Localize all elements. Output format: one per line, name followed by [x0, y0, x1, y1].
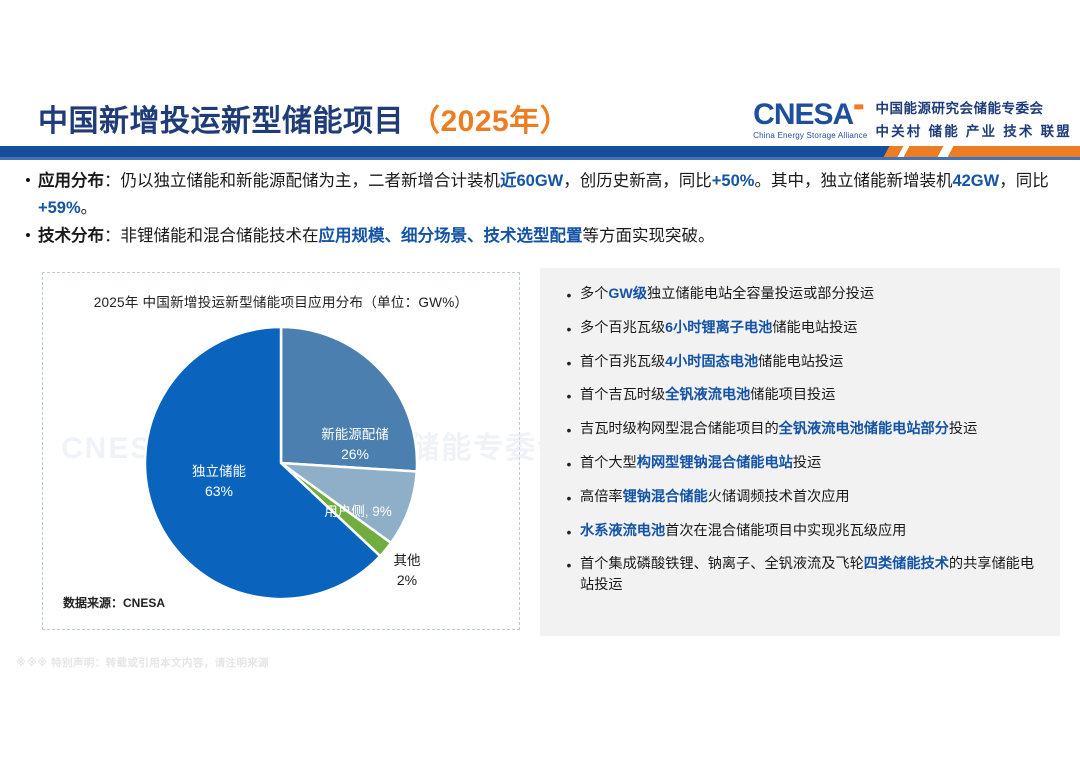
- highlight-text: 全钒液流电池储能电站部分: [779, 421, 949, 437]
- plain-text: ：仍以独立储能和新能源配储为主，二者新增合计装机: [104, 172, 500, 190]
- bullet-dot-icon: •: [558, 284, 580, 305]
- highlight-text: 近60GW: [500, 172, 563, 190]
- plain-text: 投运: [793, 455, 821, 471]
- plain-text: 高倍率: [580, 489, 623, 505]
- highlight-list-item: •吉瓦时级构网型混合储能项目的全钒液流电池储能电站部分投运: [558, 419, 1042, 440]
- plain-text: 首次在混合储能项目中实现兆瓦级应用: [665, 523, 906, 539]
- footer-disclaimer: ※※※ 特别声明：转载或引用本文内容，请注明来源: [16, 655, 269, 670]
- plain-text: 储能电站投运: [772, 320, 857, 336]
- bullet-dot-icon: •: [558, 352, 580, 373]
- highlight-text: 构网型锂钠混合储能电站: [637, 455, 793, 471]
- intro-bullet-item: •应用分布：仍以独立储能和新能源配储为主，二者新增合计装机近60GW，创历史新高…: [18, 168, 1064, 221]
- plain-text: 。其中，独立储能新增装机: [754, 172, 952, 190]
- bullet-dot-icon: •: [18, 223, 38, 248]
- plain-text: ：非锂储能和混合储能技术在: [104, 227, 319, 245]
- slide: 中国新增投运新型储能项目（2025年） CNESA▪▪ China Energy…: [0, 0, 1080, 763]
- intro-bullet-text: 应用分布：仍以独立储能和新能源配储为主，二者新增合计装机近60GW，创历史新高，…: [38, 168, 1064, 221]
- plain-text: 火储调频技术首次应用: [708, 489, 850, 505]
- plain-text: 多个百兆瓦级: [580, 320, 665, 336]
- highlight-text: 四类储能技术: [864, 556, 949, 572]
- bullet-dot-icon: •: [558, 487, 580, 508]
- bullet-dot-icon: •: [558, 318, 580, 339]
- highlight-list-item: •首个大型构网型锂钠混合储能电站投运: [558, 453, 1042, 474]
- header-divider-bar: [0, 146, 1080, 160]
- plain-text: 首个吉瓦时级: [580, 387, 665, 403]
- highlight-text: GW级: [608, 286, 647, 302]
- highlight-item-text: 首个大型构网型锂钠混合储能电站投运: [580, 453, 1042, 474]
- plain-text: 。: [81, 199, 98, 217]
- plain-text: 首个大型: [580, 455, 637, 471]
- intro-bullet-text: 技术分布：非锂储能和混合储能技术在应用规模、细分场景、技术选型配置等方面实现突破…: [38, 223, 1064, 250]
- plain-text: 吉瓦时级构网型混合储能项目的: [580, 421, 779, 437]
- highlight-text: 4小时固态电池: [665, 354, 758, 370]
- chart-panel: 2025年 中国新增投运新型储能项目应用分布（单位：GW%） CNESA 中国能…: [42, 272, 520, 630]
- logo-wordmark: CNESA▪▪ China Energy Storage Alliance: [753, 97, 867, 140]
- logo-cnesa-label: CNESA: [753, 98, 853, 131]
- chart-source: 数据来源：CNESA: [63, 594, 165, 611]
- bullet-dot-icon: •: [18, 168, 38, 193]
- highlight-list-item: •首个吉瓦时级全钒液流电池储能项目投运: [558, 385, 1042, 406]
- bullet-label: 技术分布: [38, 227, 104, 245]
- highlight-list-item: •首个集成磷酸铁锂、钠离子、全钒液流及飞轮四类储能技术的共享储能电站投运: [558, 554, 1042, 595]
- highlight-item-text: 高倍率锂钠混合储能火储调频技术首次应用: [580, 487, 1042, 508]
- highlights-panel: •多个GW级独立储能电站全容量投运或部分投运•多个百兆瓦级6小时锂离子电池储能电…: [540, 268, 1060, 636]
- plain-text: ，创历史新高，同比: [563, 172, 712, 190]
- plain-text: ，同比: [999, 172, 1049, 190]
- highlight-text: 全钒液流电池: [665, 387, 750, 403]
- bullet-label: 应用分布: [38, 172, 104, 190]
- highlight-item-text: 吉瓦时级构网型混合储能项目的全钒液流电池储能电站部分投运: [580, 419, 1042, 440]
- divider-underline: [0, 157, 1080, 160]
- plain-text: 储能电站投运: [758, 354, 843, 370]
- logo-flag-icon: ▪▪: [853, 96, 861, 118]
- plain-text: 独立储能电站全容量投运或部分投运: [647, 286, 874, 302]
- highlight-item-text: 首个百兆瓦级4小时固态电池储能电站投运: [580, 352, 1042, 373]
- logo-chinese-name: 中国能源研究会储能专委会 中关村 储能 产业 技术 联盟: [875, 97, 1072, 140]
- bullet-dot-icon: •: [558, 385, 580, 406]
- logo-cnesa-text: CNESA▪▪: [753, 97, 861, 130]
- highlight-item-text: 多个GW级独立储能电站全容量投运或部分投运: [580, 284, 1042, 305]
- cnesa-logo: CNESA▪▪ China Energy Storage Alliance 中国…: [753, 94, 1072, 142]
- highlight-item-text: 首个集成磷酸铁锂、钠离子、全钒液流及飞轮四类储能技术的共享储能电站投运: [580, 554, 1042, 595]
- highlight-text: 水系液流电池: [580, 523, 665, 539]
- page-title-main: 中国新增投运新型储能项目: [38, 105, 404, 138]
- page-title-year: （2025年）: [410, 105, 570, 138]
- bullet-dot-icon: •: [558, 453, 580, 474]
- page-title: 中国新增投运新型储能项目（2025年）: [38, 96, 570, 140]
- highlight-item-text: 首个吉瓦时级全钒液流电池储能项目投运: [580, 385, 1042, 406]
- intro-bullet-list: •应用分布：仍以独立储能和新能源配储为主，二者新增合计装机近60GW，创历史新高…: [18, 168, 1064, 252]
- bullet-dot-icon: •: [558, 521, 580, 542]
- logo-subtitle: China Energy Storage Alliance: [753, 132, 867, 140]
- intro-bullet-item: •技术分布：非锂储能和混合储能技术在应用规模、细分场景、技术选型配置等方面实现突…: [18, 223, 1064, 250]
- pie-chart: 新能源配储 26%独立储能 63%用户侧, 9%其他 2%: [131, 323, 431, 603]
- highlight-text: 锂钠混合储能: [623, 489, 708, 505]
- highlight-text: +50%: [712, 172, 755, 190]
- highlight-item-text: 水系液流电池首次在混合储能项目中实现兆瓦级应用: [580, 521, 1042, 542]
- highlight-list-item: •水系液流电池首次在混合储能项目中实现兆瓦级应用: [558, 521, 1042, 542]
- plain-text: 首个集成磷酸铁锂、钠离子、全钒液流及飞轮: [580, 556, 864, 572]
- logo-cn-line-1: 中国能源研究会储能专委会: [875, 97, 1072, 117]
- bullet-dot-icon: •: [558, 419, 580, 440]
- plain-text: 投运: [949, 421, 977, 437]
- highlight-list-item: •首个百兆瓦级4小时固态电池储能电站投运: [558, 352, 1042, 373]
- plain-text: 首个百兆瓦级: [580, 354, 665, 370]
- highlight-list-item: •多个百兆瓦级6小时锂离子电池储能电站投运: [558, 318, 1042, 339]
- highlight-text: 6小时锂离子电池: [665, 320, 772, 336]
- highlight-list-item: •高倍率锂钠混合储能火储调频技术首次应用: [558, 487, 1042, 508]
- highlight-text: 应用规模、细分场景、技术选型配置: [319, 227, 583, 245]
- pie-chart-svg: [131, 323, 431, 603]
- plain-text: 储能项目投运: [750, 387, 835, 403]
- highlight-item-text: 多个百兆瓦级6小时锂离子电池储能电站投运: [580, 318, 1042, 339]
- plain-text: 多个: [580, 286, 608, 302]
- chart-title: 2025年 中国新增投运新型储能项目应用分布（单位：GW%）: [43, 291, 519, 311]
- pie-slice-新能源配储: [281, 327, 417, 472]
- logo-cn-line-2: 中关村 储能 产业 技术 联盟: [875, 120, 1072, 140]
- highlight-text: +59%: [38, 199, 81, 217]
- plain-text: 等方面实现突破。: [583, 227, 715, 245]
- highlight-list-item: •多个GW级独立储能电站全容量投运或部分投运: [558, 284, 1042, 305]
- highlight-text: 42GW: [952, 172, 999, 190]
- bullet-dot-icon: •: [558, 554, 580, 575]
